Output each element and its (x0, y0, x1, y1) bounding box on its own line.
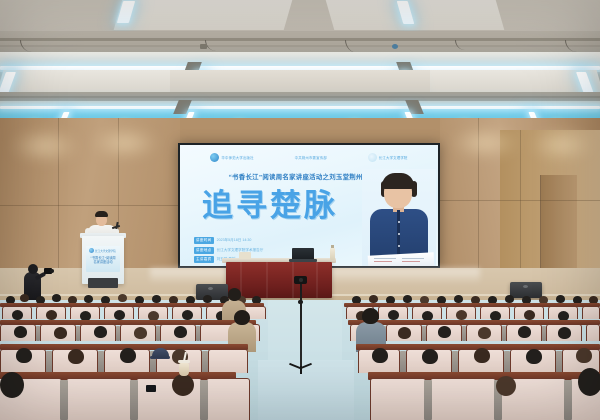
podium-sign-line2: 名家讲座活动 (93, 260, 112, 264)
host-logo-label: 华中师范大学出版社 (221, 155, 253, 160)
seat (206, 378, 250, 420)
seat (370, 378, 426, 420)
guest-speaker-portrait (362, 169, 436, 266)
stage-table (226, 262, 332, 298)
partner-logo-label: 长江大学文理学院 (379, 155, 408, 160)
lecture-hall-photo: 华中师范大学出版社 中共荆州市委宣传部 长江大学文理学院 “书香长江”阅读周名家… (0, 0, 600, 420)
meta-tag: 主讲嘉宾 (194, 256, 214, 263)
meta-row: 讲座地点 长江大学文理学院学术报告厅 (194, 247, 263, 254)
host-logo-icon (210, 153, 219, 162)
meta-tag: 讲座地点 (194, 247, 214, 254)
sponsor-logo: 中共荆州市委宣传部 (295, 155, 327, 160)
podium-logo-label: 长江大学文理学院 (95, 249, 116, 253)
partner-logo-icon (368, 153, 377, 162)
meta-tag: 讲座时间 (194, 237, 214, 244)
podium-sign-text: “书香长江”阅读周 名家讲座活动 (86, 256, 120, 265)
name-card (239, 252, 251, 259)
seat (66, 378, 132, 420)
sponsor-logo-label: 中共荆州市委宣传部 (295, 155, 327, 160)
seat (582, 306, 600, 319)
seat (430, 378, 496, 420)
partner-logo: 长江大学文理学院 (368, 153, 408, 162)
phone (146, 385, 156, 392)
seat (208, 349, 248, 373)
meta-row: 讲座时间 2023年5月18日 14:30 (194, 237, 263, 244)
host-university-logo: 华中师范大学出版社 (210, 153, 253, 162)
podium-logo-icon (89, 248, 94, 253)
water-bottle (330, 248, 335, 260)
ceiling (0, 0, 600, 132)
meta-value: 2023年5月18日 14:30 (217, 238, 252, 243)
seat (586, 324, 600, 341)
screen-logo-row: 华中师范大学出版社 中共荆州市委宣传部 长江大学文理学院 (180, 151, 438, 163)
screen-main-title: 追寻楚脉 (190, 189, 350, 223)
